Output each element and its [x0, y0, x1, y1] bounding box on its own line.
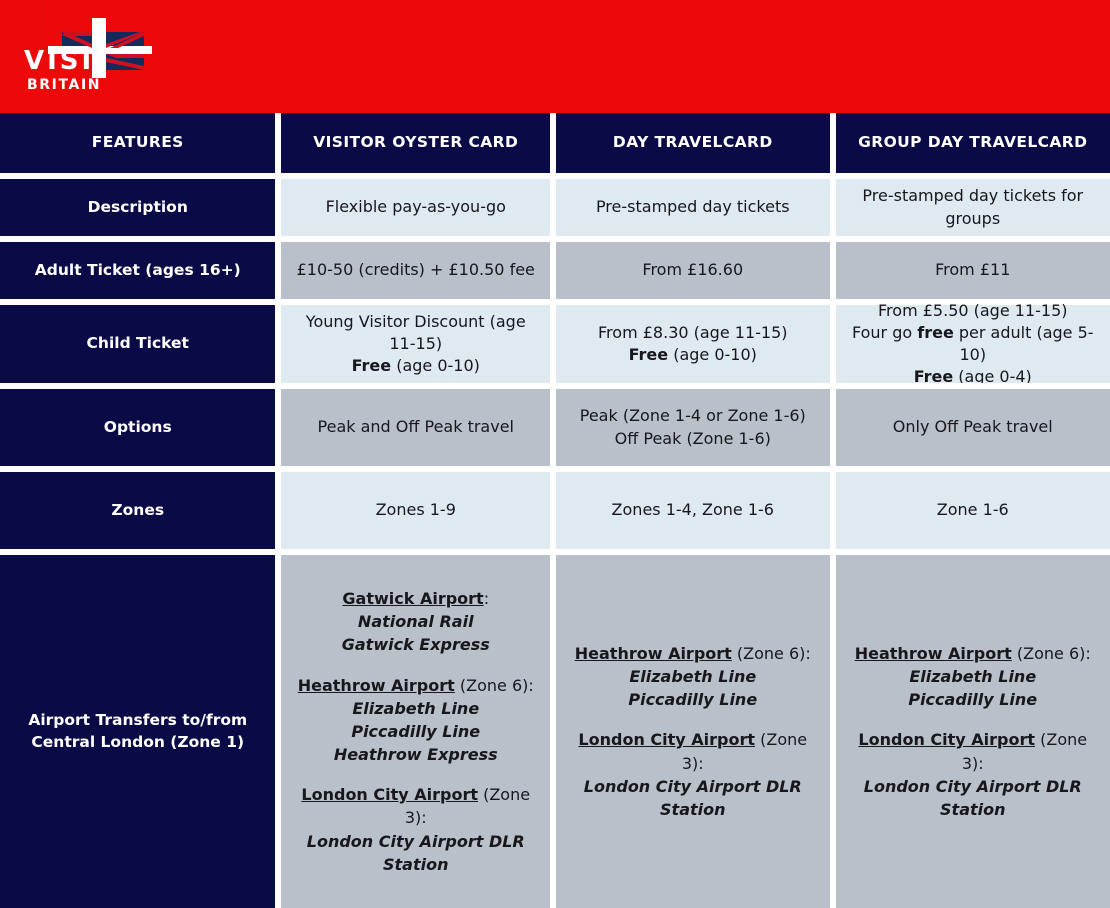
cell-description-group-day-travelcard: Pre-stamped day tickets for groups [836, 179, 1110, 236]
airport-zone: (Zone 6): [455, 676, 534, 695]
transport-service-name: London City Airport DLR Station [584, 777, 802, 819]
airport-zone: (Zone 6): [1012, 644, 1091, 663]
airport-name-line: Gatwick Airport: [291, 587, 540, 610]
emphasis-text: free [917, 323, 954, 342]
cell-adult-day-travelcard: From £16.60 [556, 242, 830, 299]
airport-name: London City Airport [301, 785, 478, 804]
transport-service-line: Heathrow Express [291, 743, 540, 766]
cell-child-day-travelcard: From £8.30 (age 11-15)Free (age 0-10) [556, 305, 830, 383]
column-header-day-travelcard: DAY TRAVELCARD [556, 113, 830, 173]
text-line: Young Visitor Discount (age 11-15) [291, 311, 540, 355]
airport-name: London City Airport [578, 730, 755, 749]
airport-name: Heathrow Airport [855, 644, 1012, 663]
airport-group: Heathrow Airport (Zone 6):Elizabeth Line… [291, 674, 540, 767]
text-line: Four go free per adult (age 5-10) [846, 322, 1100, 366]
plain-text: Four go [852, 323, 917, 342]
cell-zones-visitor-oyster: Zones 1-9 [281, 472, 550, 549]
column-header-group-day-travelcard: GROUP DAY TRAVELCARD [836, 113, 1110, 173]
logo-britain-text: BRITAIN [24, 78, 134, 92]
row-label-airport-transfers: Airport Transfers to/from Central London… [0, 555, 275, 908]
table-header-row: FEATURES VISITOR OYSTER CARD DAY TRAVELC… [0, 113, 1110, 173]
airport-zone: : [484, 589, 489, 608]
text-line: From £8.30 (age 11-15) [566, 322, 820, 344]
group-spacer [846, 711, 1100, 728]
plain-text: (age 0-10) [668, 345, 757, 364]
cell-description-day-travelcard: Pre-stamped day tickets [556, 179, 830, 236]
airport-group: London City Airport (Zone 3):London City… [291, 783, 540, 876]
table-row: Airport Transfers to/from Central London… [0, 555, 1110, 908]
airport-name-line: Heathrow Airport (Zone 6): [846, 642, 1100, 665]
transport-service-line: Gatwick Express [291, 633, 540, 656]
rich-lines: From £8.30 (age 11-15)Free (age 0-10) [566, 322, 820, 366]
row-label-description: Description [0, 179, 275, 236]
transport-service-line: London City Airport DLR Station [846, 775, 1100, 821]
airport-name-line: London City Airport (Zone 3): [291, 783, 540, 829]
airport-groups: Heathrow Airport (Zone 6):Elizabeth Line… [846, 642, 1100, 821]
emphasis-text: Free [629, 345, 669, 364]
table-row: Child Ticket Young Visitor Discount (age… [0, 305, 1110, 383]
transport-service-name: London City Airport DLR Station [307, 832, 525, 874]
airport-name-line: Heathrow Airport (Zone 6): [566, 642, 820, 665]
transport-service-name: Elizabeth Line [909, 667, 1036, 686]
logo-visit-text: VISIT [24, 48, 134, 74]
column-header-visitor-oyster-card: VISITOR OYSTER CARD [281, 113, 550, 173]
row-label-adult-ticket: Adult Ticket (ages 16+) [0, 242, 275, 299]
airport-name-line: London City Airport (Zone 3): [566, 728, 820, 774]
brand-banner: VISIT BRITAIN [0, 0, 1110, 113]
cell-zones-day-travelcard: Zones 1-4, Zone 1-6 [556, 472, 830, 549]
cell-zones-group-day-travelcard: Zone 1-6 [836, 472, 1110, 549]
plain-text: From £5.50 (age 11-15) [878, 301, 1067, 320]
ticket-comparison-table: FEATURES VISITOR OYSTER CARD DAY TRAVELC… [0, 113, 1110, 908]
transport-service-name: Elizabeth Line [629, 667, 756, 686]
cell-options-day-travelcard: Peak (Zone 1-4 or Zone 1-6)Off Peak (Zon… [556, 389, 830, 466]
transport-service-line: London City Airport DLR Station [291, 830, 540, 876]
airport-group: Heathrow Airport (Zone 6):Elizabeth Line… [566, 642, 820, 712]
airport-group: London City Airport (Zone 3):London City… [846, 728, 1100, 821]
group-spacer [566, 711, 820, 728]
text-line: Peak (Zone 1-4 or Zone 1-6) [566, 405, 820, 427]
transport-service-name: Gatwick Express [342, 635, 490, 654]
transport-service-line: Elizabeth Line [291, 697, 540, 720]
plain-text: per adult (age 5-10) [954, 323, 1094, 364]
transport-service-line: National Rail [291, 610, 540, 633]
airport-name-line: London City Airport (Zone 3): [846, 728, 1100, 774]
row-label-options: Options [0, 389, 275, 466]
row-label-zones: Zones [0, 472, 275, 549]
emphasis-text: Free [352, 356, 392, 375]
transport-service-name: Elizabeth Line [352, 699, 479, 718]
cell-child-visitor-oyster: Young Visitor Discount (age 11-15)Free (… [281, 305, 550, 383]
cell-child-group-day-travelcard: From £5.50 (age 11-15)Four go free per a… [836, 305, 1110, 383]
airport-name: London City Airport [858, 730, 1035, 749]
rich-lines: From £5.50 (age 11-15)Four go free per a… [846, 300, 1100, 388]
airport-name: Gatwick Airport [342, 589, 483, 608]
plain-text: (age 0-10) [391, 356, 480, 375]
airport-group: Gatwick Airport:National RailGatwick Exp… [291, 587, 540, 657]
text-line: Off Peak (Zone 1-6) [566, 428, 820, 450]
cell-airport-day-travelcard: Heathrow Airport (Zone 6):Elizabeth Line… [556, 555, 830, 908]
table-row: Description Flexible pay-as-you-go Pre-s… [0, 179, 1110, 236]
airport-group: London City Airport (Zone 3):London City… [566, 728, 820, 821]
plain-text: From £8.30 (age 11-15) [598, 323, 787, 342]
text-line: From £5.50 (age 11-15) [846, 300, 1100, 322]
airport-zone: (Zone 6): [732, 644, 811, 663]
transport-service-line: Piccadilly Line [291, 720, 540, 743]
cell-description-visitor-oyster: Flexible pay-as-you-go [281, 179, 550, 236]
text-line: Free (age 0-10) [291, 355, 540, 377]
cell-airport-group-day-travelcard: Heathrow Airport (Zone 6):Elizabeth Line… [836, 555, 1110, 908]
transport-service-line: Piccadilly Line [846, 688, 1100, 711]
transport-service-name: London City Airport DLR Station [864, 777, 1082, 819]
logo-wordmark: VISIT BRITAIN [24, 48, 134, 92]
visit-britain-logo[interactable]: VISIT BRITAIN [18, 16, 150, 96]
cell-adult-group-day-travelcard: From £11 [836, 242, 1110, 299]
column-header-features: FEATURES [0, 113, 275, 173]
transport-service-line: Elizabeth Line [566, 665, 820, 688]
transport-service-name: National Rail [358, 612, 474, 631]
airport-groups: Gatwick Airport:National RailGatwick Exp… [291, 587, 540, 876]
cell-adult-visitor-oyster: £10-50 (credits) + £10.50 fee [281, 242, 550, 299]
row-label-child-ticket: Child Ticket [0, 305, 275, 383]
transport-service-line: London City Airport DLR Station [566, 775, 820, 821]
airport-name: Heathrow Airport [298, 676, 455, 695]
airport-group: Heathrow Airport (Zone 6):Elizabeth Line… [846, 642, 1100, 712]
table-row: Zones Zones 1-9 Zones 1-4, Zone 1-6 Zone… [0, 472, 1110, 549]
transport-service-name: Piccadilly Line [908, 690, 1037, 709]
airport-name: Heathrow Airport [575, 644, 732, 663]
transport-service-name: Piccadilly Line [628, 690, 757, 709]
group-spacer [291, 766, 540, 783]
plain-lines: Peak (Zone 1-4 or Zone 1-6)Off Peak (Zon… [566, 405, 820, 449]
plain-text: Young Visitor Discount (age 11-15) [306, 312, 526, 353]
transport-service-name: Heathrow Express [334, 745, 498, 764]
table-row: Adult Ticket (ages 16+) £10-50 (credits)… [0, 242, 1110, 299]
comparison-table-page: VISIT BRITAIN FEATURES VISITOR OYSTER CA… [0, 0, 1110, 887]
group-spacer [291, 657, 540, 674]
transport-service-line: Piccadilly Line [566, 688, 820, 711]
cell-options-visitor-oyster: Peak and Off Peak travel [281, 389, 550, 466]
cell-airport-visitor-oyster: Gatwick Airport:National RailGatwick Exp… [281, 555, 550, 908]
airport-name-line: Heathrow Airport (Zone 6): [291, 674, 540, 697]
cell-options-group-day-travelcard: Only Off Peak travel [836, 389, 1110, 466]
rich-lines: Young Visitor Discount (age 11-15)Free (… [291, 311, 540, 377]
table-row: Options Peak and Off Peak travel Peak (Z… [0, 389, 1110, 466]
airport-groups: Heathrow Airport (Zone 6):Elizabeth Line… [566, 642, 820, 821]
text-line: Free (age 0-10) [566, 344, 820, 366]
transport-service-line: Elizabeth Line [846, 665, 1100, 688]
transport-service-name: Piccadilly Line [351, 722, 480, 741]
